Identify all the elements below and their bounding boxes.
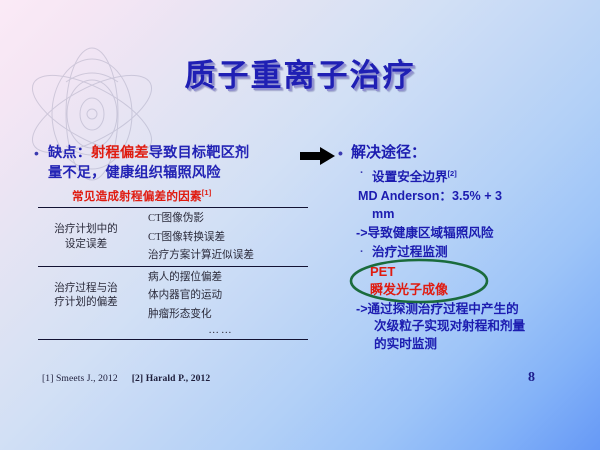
slide-canvas: 质子重离子治疗 • 缺点：射程偏差导致目标靶区剂 量不足，健康组织辐照风险 常见… [0,0,600,450]
factor-table-caption-text: 常见造成射程偏差的因素 [72,190,202,203]
page-number: 8 [528,370,535,386]
left-lead-text: 缺点：射程偏差导致目标靶区剂 量不足，健康组织辐照风险 [48,144,249,183]
bullet-dot-icon: • [34,144,48,163]
slide-title: 质子重离子治疗 [185,50,416,95]
factor-table-caption: 常见造成射程偏差的因素[1] [72,188,304,204]
right-item-2-row: · 治疗过程监测 [360,244,588,262]
bullet-dot-icon: • [338,143,351,163]
table-ellipsis-row: …… [38,324,308,339]
right-item-2-result: ->通过探测治疗过程中产生的 次级粒子实现对射程和剂量 的实时监测 [356,301,588,354]
right-item-1-result: ->导致健康区域辐照风险 [356,225,588,243]
right-item-1: · 设置安全边界[2] [360,165,588,187]
left-lead-rest: 导致目标靶区剂 [149,145,250,161]
circled-line-prompt-gamma: 瞬发光子成像 [364,281,494,299]
table-category-cell-1: 治疗计划中的 设定误差 [38,210,134,266]
right-item-1-detail-line1: MD Anderson：3.5% + 3 [358,188,588,205]
factor-table: 治疗计划中的 设定误差 CT图像伪影 CT图像转换误差 治疗方案计算近似误差 治… [38,207,308,342]
factor-table-caption-ref: [1] [202,188,212,197]
table-item-cell: 体内器官的运动 [134,287,308,306]
table-item-cell: 治疗方案计算近似误差 [134,247,308,266]
table-category-2-line1: 治疗过程与治 [54,283,118,294]
left-content-column: • 缺点：射程偏差导致目标靶区剂 量不足，健康组织辐照风险 常见造成射程偏差的因… [34,144,304,342]
sub-bullet-dot-icon: · [360,165,372,183]
reference-2: [2] Harald P., 2012 [132,373,211,384]
table-category-1-line1: 治疗计划中的 [54,224,118,235]
right-arrow-icon [300,146,336,166]
left-lead-prefix: 缺点： [48,145,91,161]
left-lead-bullet-row: • 缺点：射程偏差导致目标靶区剂 量不足，健康组织辐照风险 [34,144,304,183]
reference-list: [1] Smeets J., 2012[2] Harald P., 2012 [42,373,210,384]
right-item-1-label: 设置安全边界 [372,170,448,184]
table-category-1-line2: 设定误差 [65,239,107,250]
right-item-1-label-wrap: 设置安全边界[2] [372,165,457,187]
highlighted-monitoring-methods: PET 瞬发光子成像 [364,263,494,299]
right-content-column: • 解决途径： · 设置安全边界[2] MD Anderson：3.5% + 3… [338,143,588,353]
right-item-2-label: 治疗过程监测 [372,244,448,262]
circled-line-pet: PET [364,263,494,281]
right-item-1-row: · 设置安全边界[2] [360,165,588,187]
sub-bullet-dot-icon: · [360,244,372,262]
table-rule-bottom [38,339,308,342]
table-item-cell: CT图像伪影 [134,210,308,229]
right-item-1-detail-line2: mm [372,206,588,223]
left-lead-highlight: 射程偏差 [91,145,149,161]
table-category-cell-2: 治疗过程与治 疗计划的偏差 [38,269,134,325]
table-item-cell: 病人的摆位偏差 [134,269,308,288]
table-row: 治疗过程与治 疗计划的偏差 病人的摆位偏差 [38,269,308,288]
right-item-2-result-line2: 次级粒子实现对射程和剂量 [356,318,588,336]
reference-1: [1] Smeets J., 2012 [42,373,118,384]
right-item-1-ref: [2] [448,169,457,178]
right-lead-text: 解决途径： [351,143,426,163]
slide-title-container: 质子重离子治疗 [0,50,600,95]
right-lead-row: • 解决途径： [338,143,588,163]
table-item-cell: 肿瘤形态变化 [134,306,308,325]
right-item-2-result-line1: ->通过探测治疗过程中产生的 [356,301,588,319]
table-item-cell: CT图像转换误差 [134,229,308,248]
right-item-2: · 治疗过程监测 [360,244,588,262]
table-category-2-line2: 疗计划的偏差 [54,297,118,308]
left-lead-line2: 量不足，健康组织辐照风险 [48,165,221,181]
table-ellipsis-cell: …… [134,324,308,339]
right-item-2-result-line3: 的实时监测 [356,336,588,354]
table-row: 治疗计划中的 设定误差 CT图像伪影 [38,210,308,229]
